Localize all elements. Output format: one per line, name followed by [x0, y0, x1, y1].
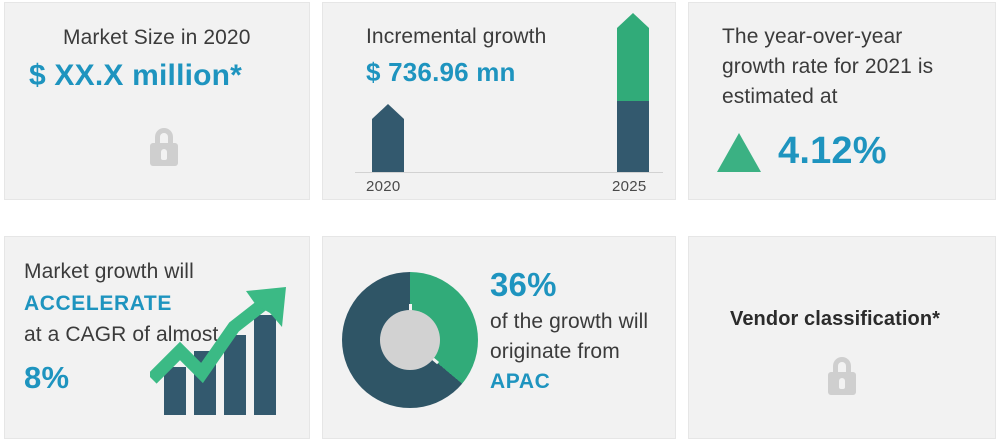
apac-share-value: 36%: [490, 266, 557, 304]
incremental-growth-value: $ 736.96 mn: [366, 57, 516, 88]
bar-2020: [372, 104, 404, 172]
bar-2020-cap: [372, 104, 404, 119]
market-size-value: $ XX.X million*: [29, 59, 242, 93]
vendor-classification-title: Vendor classification*: [730, 308, 940, 331]
lock-icon: [149, 128, 179, 166]
bar-2020-stem: [372, 119, 404, 172]
bar-2025: [617, 13, 649, 172]
lock-keyhole: [839, 378, 845, 389]
up-triangle-icon: [717, 133, 761, 172]
yoy-growth-title: The year-over-year growth rate for 2021 …: [722, 22, 972, 112]
cagr-line-1: Market growth will: [24, 257, 194, 287]
incremental-growth-title: Incremental growth: [366, 22, 546, 52]
bar-chart-axis: [355, 172, 663, 173]
apac-line-1: of the growth will: [490, 307, 648, 337]
bar-2025-base-segment: [617, 101, 649, 172]
panel-vendor-classification: [688, 236, 996, 439]
bar-2025-cap: [617, 13, 649, 28]
lock-icon: [827, 357, 857, 395]
donut-center-hole: [380, 310, 440, 370]
growth-arrow-chart-icon: [150, 285, 310, 415]
apac-line-2: originate from: [490, 337, 620, 367]
apac-region-label: APAC: [490, 367, 550, 397]
cagr-value: 8%: [24, 360, 69, 396]
apac-donut-chart: [342, 272, 478, 408]
yoy-growth-value: 4.12%: [778, 130, 887, 173]
bar-chart-tick-2020: 2020: [366, 178, 401, 195]
infographic-board: Market Size in 2020 $ XX.X million* Incr…: [0, 0, 1000, 441]
bar-2025-growth-segment: [617, 28, 649, 101]
market-size-title: Market Size in 2020: [63, 23, 251, 53]
panel-market-size: Market Size in 2020 $ XX.X million*: [4, 2, 310, 200]
lock-keyhole: [161, 149, 167, 160]
bar-chart-tick-2025: 2025: [612, 178, 647, 195]
